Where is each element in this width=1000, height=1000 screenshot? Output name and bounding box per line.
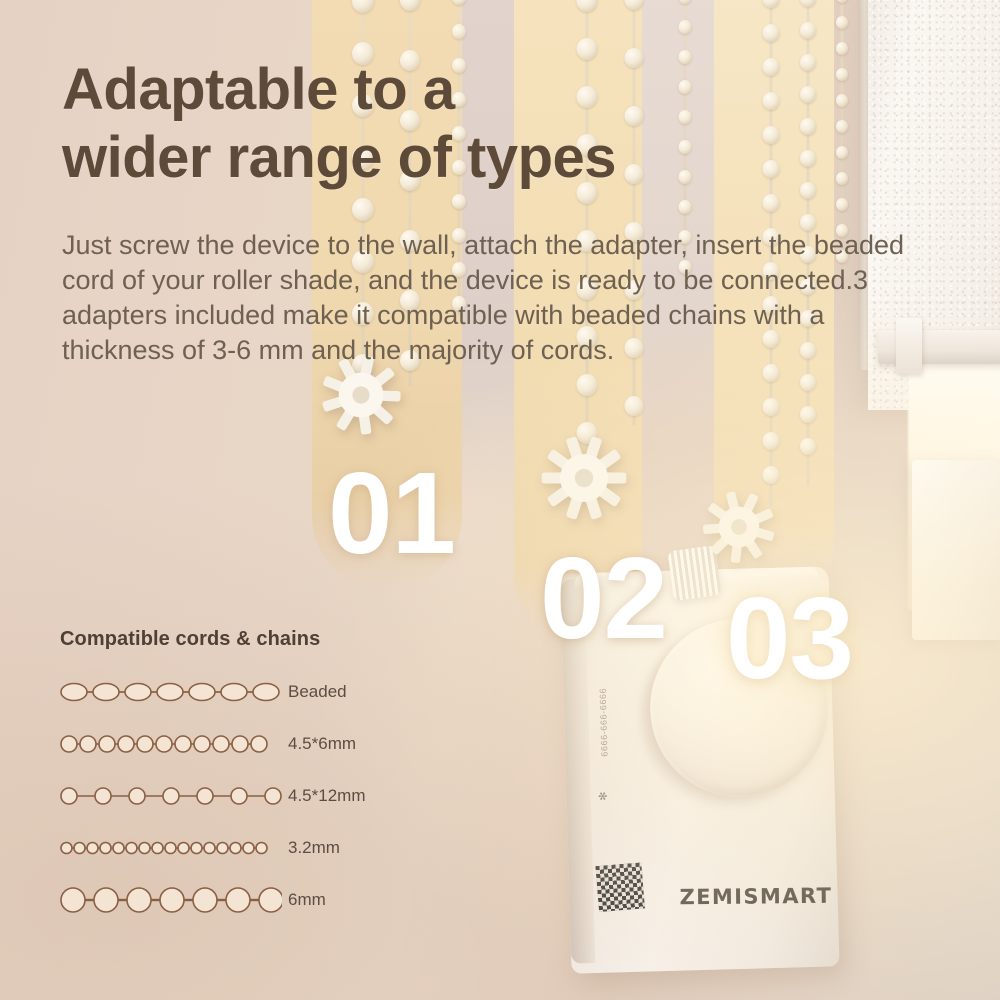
headline-line-2: wider range of types: [62, 124, 616, 192]
legend-rows: Beaded4.5*6mm4.5*12mm3.2mm6mm: [60, 673, 400, 919]
legend-row-label: 4.5*12mm: [288, 786, 365, 806]
step-number-03: 03: [726, 580, 853, 696]
legend-row: 6mm: [60, 881, 400, 919]
chain-round-large-icon: [60, 885, 282, 915]
legend-row: 3.2mm: [60, 829, 400, 867]
legend-row: Beaded: [60, 673, 400, 711]
legend-row-label: 4.5*6mm: [288, 734, 356, 754]
chain-oval-beaded-icon: [60, 677, 282, 707]
legend-row: 4.5*12mm: [60, 777, 400, 815]
legend-row-label: Beaded: [288, 682, 347, 702]
body-copy-text: Just screw the device to the wall, attac…: [62, 228, 922, 368]
page-title: Adaptable to a wider range of types: [62, 56, 616, 193]
step-number-02: 02: [540, 540, 667, 656]
product-marketing-image: 6666-666-6666 ✻ ZEMISMART 01 02 03 Adapt…: [0, 0, 1000, 1000]
chain-round-tiny-icon: [60, 833, 282, 863]
legend-row-label: 6mm: [288, 890, 326, 910]
compatible-cords-legend: Compatible cords & chains Beaded4.5*6mm4…: [60, 628, 400, 933]
legend-title: Compatible cords & chains: [60, 628, 400, 651]
step-number-01: 01: [328, 455, 455, 571]
legend-row-label: 3.2mm: [288, 838, 340, 858]
chain-round-small-icon: [60, 729, 282, 759]
headline-line-1: Adaptable to a: [62, 57, 455, 122]
body-copy: Just screw the device to the wall, attac…: [62, 228, 922, 368]
legend-row: 4.5*6mm: [60, 725, 400, 763]
chain-round-spaced-icon: [60, 781, 282, 811]
